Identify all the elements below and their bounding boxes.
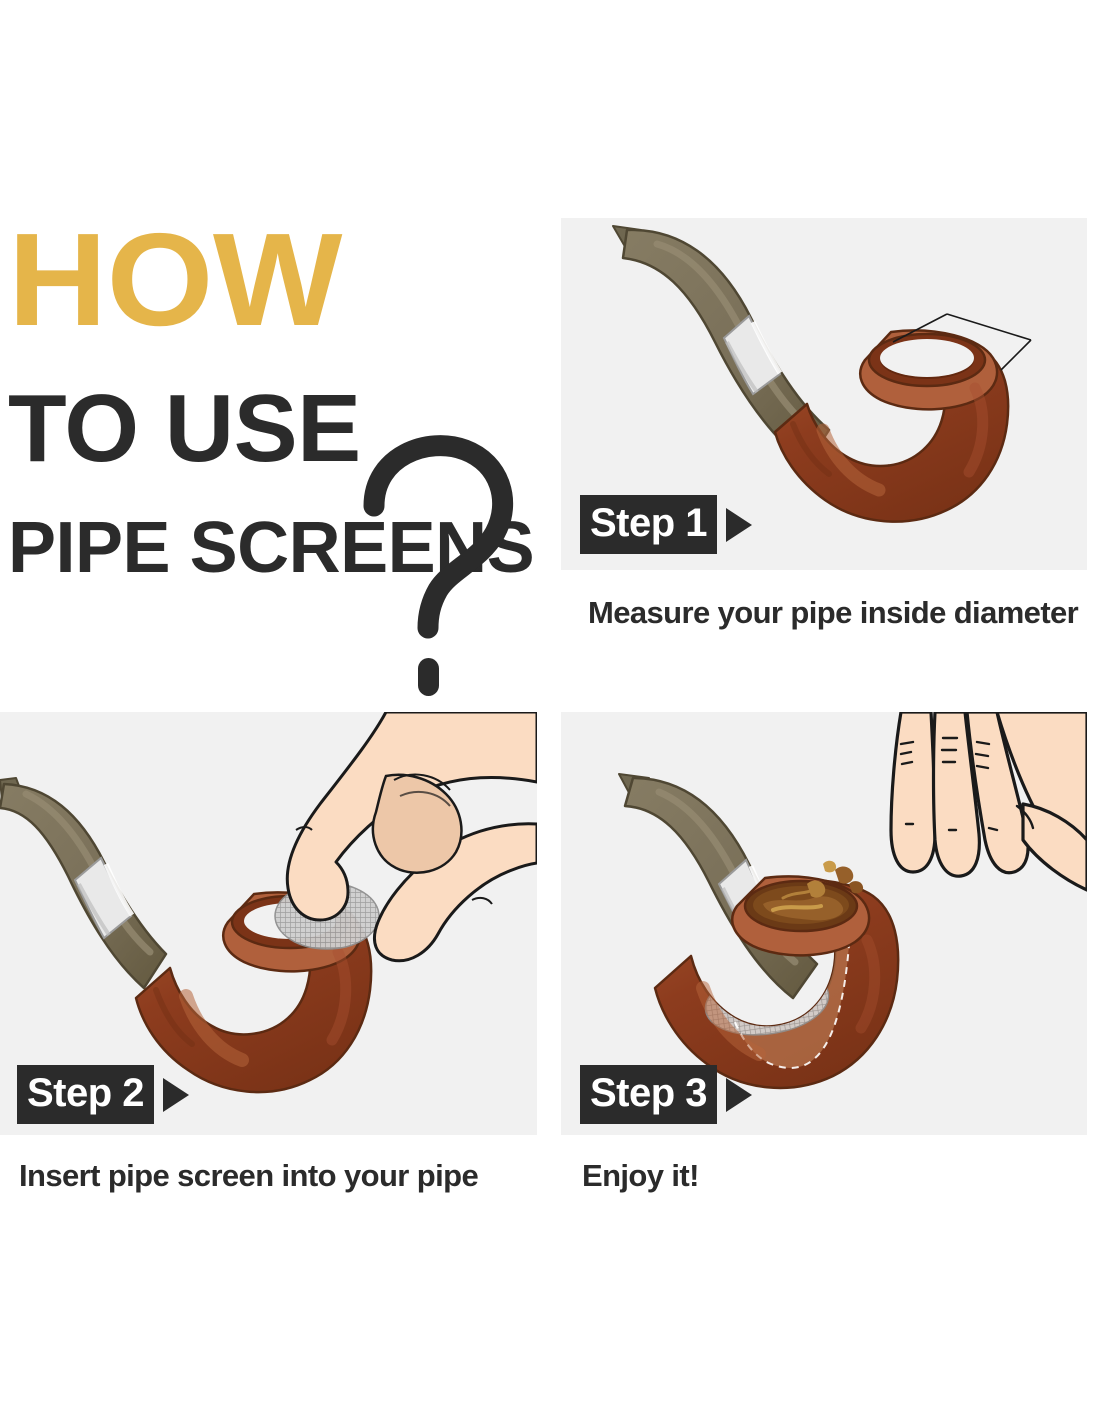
step-2-panel: Step 2: [0, 712, 537, 1135]
step-1-arrow-icon: [726, 508, 752, 542]
page-title-line-2: TO USE: [8, 385, 361, 473]
step-2-caption: Insert pipe screen into your pipe: [19, 1158, 478, 1194]
step-3-badge-label: Step 3: [580, 1065, 717, 1124]
question-mark-icon: [360, 430, 530, 700]
step-1-badge-label: Step 1: [580, 495, 717, 554]
step-3-badge: Step 3: [580, 1065, 752, 1124]
title-block: HOW TO USE PIPE SCREENS: [0, 215, 540, 615]
step-1-badge: Step 1: [580, 495, 752, 554]
page-title-line-1: HOW: [8, 219, 342, 340]
step-2-badge-label: Step 2: [17, 1065, 154, 1124]
step-3-panel: Step 3: [561, 712, 1087, 1135]
step-2-badge: Step 2: [17, 1065, 189, 1124]
step-3-caption: Enjoy it!: [582, 1158, 699, 1194]
step-1-caption: Measure your pipe inside diameter: [588, 595, 1078, 631]
step-1-panel: ?inch Step 1: [561, 218, 1087, 570]
step-2-arrow-icon: [163, 1078, 189, 1112]
step-3-arrow-icon: [726, 1078, 752, 1112]
